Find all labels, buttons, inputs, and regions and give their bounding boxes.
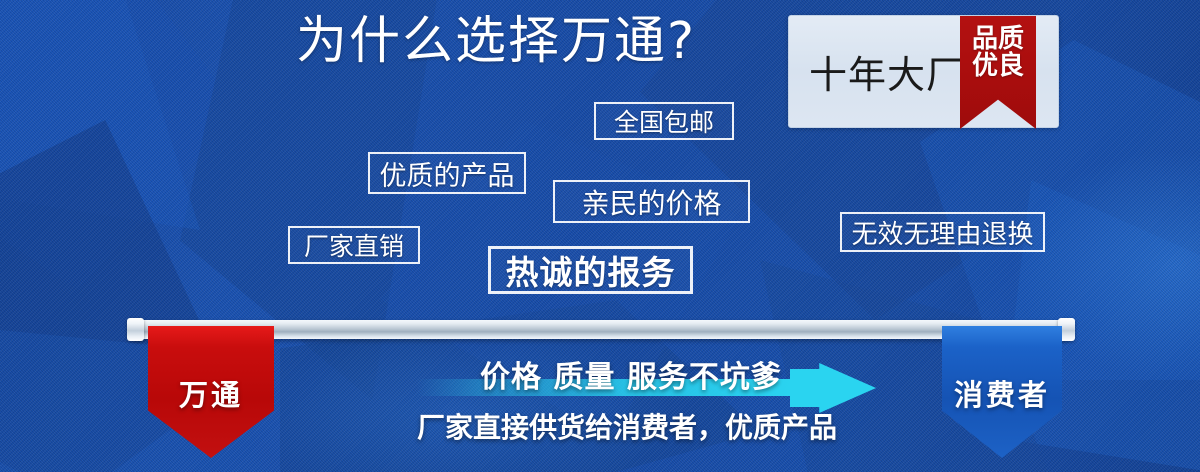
quality-badge: 十年大厂 品质 优良	[788, 15, 1059, 128]
ribbon-text: 品质 优良	[960, 26, 1036, 79]
ribbon-line-2: 优良	[960, 53, 1036, 80]
slogan-primary: 价格 质量 服务不坑爹	[480, 352, 782, 396]
badge-title: 十年大厂	[809, 44, 965, 99]
pennant-brand-label: 万通	[179, 372, 243, 414]
slogan-secondary: 厂家直接供货给消费者，优质产品	[417, 406, 837, 446]
feature-box-product: 优质的产品	[368, 152, 526, 194]
pennant-consumer-label: 消费者	[954, 372, 1050, 414]
feature-box-factory: 厂家直销	[288, 226, 420, 264]
page-title: 为什么选择万通?	[296, 14, 696, 70]
ribbon-line-1: 品质	[960, 26, 1036, 53]
promo-banner: 为什么选择万通? 十年大厂 品质 优良 全国包邮 优质的产品 亲民的价格 厂家直…	[0, 0, 1200, 472]
feature-box-shipping: 全国包邮	[594, 102, 734, 140]
ribbon-shape: 品质 优良	[960, 16, 1036, 129]
feature-box-price: 亲民的价格	[553, 180, 750, 223]
rod-end-cap-left	[127, 318, 144, 341]
feature-box-return: 无效无理由退换	[840, 212, 1045, 252]
feature-box-service: 热诚的报务	[488, 246, 693, 294]
